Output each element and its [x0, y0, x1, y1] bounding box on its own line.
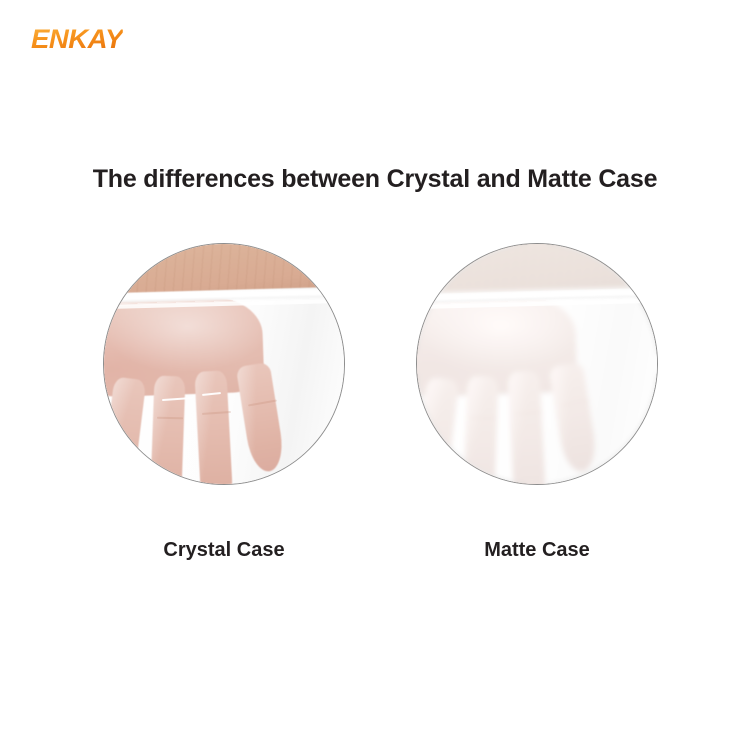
- knuckle-crease: [157, 417, 183, 419]
- comparison-sample-matte: Matte Case: [416, 243, 658, 485]
- comparison-row: Crystal Case Matte Case: [0, 243, 750, 583]
- matte-case-photo: [416, 243, 658, 485]
- matte-case-caption: Matte Case: [416, 539, 658, 562]
- back-of-hand: [104, 244, 344, 294]
- crystal-scene: [104, 244, 344, 484]
- crystal-case-caption: Crystal Case: [103, 539, 345, 562]
- page-title: The differences between Crystal and Matt…: [0, 165, 750, 194]
- comparison-sample-crystal: Crystal Case: [103, 243, 345, 485]
- crystal-case-photo: [103, 243, 345, 485]
- matte-scene: [417, 244, 657, 484]
- matte-frost-overlay: [417, 244, 657, 484]
- finger: [149, 375, 185, 484]
- brand-logo: ENKAY: [31, 26, 123, 53]
